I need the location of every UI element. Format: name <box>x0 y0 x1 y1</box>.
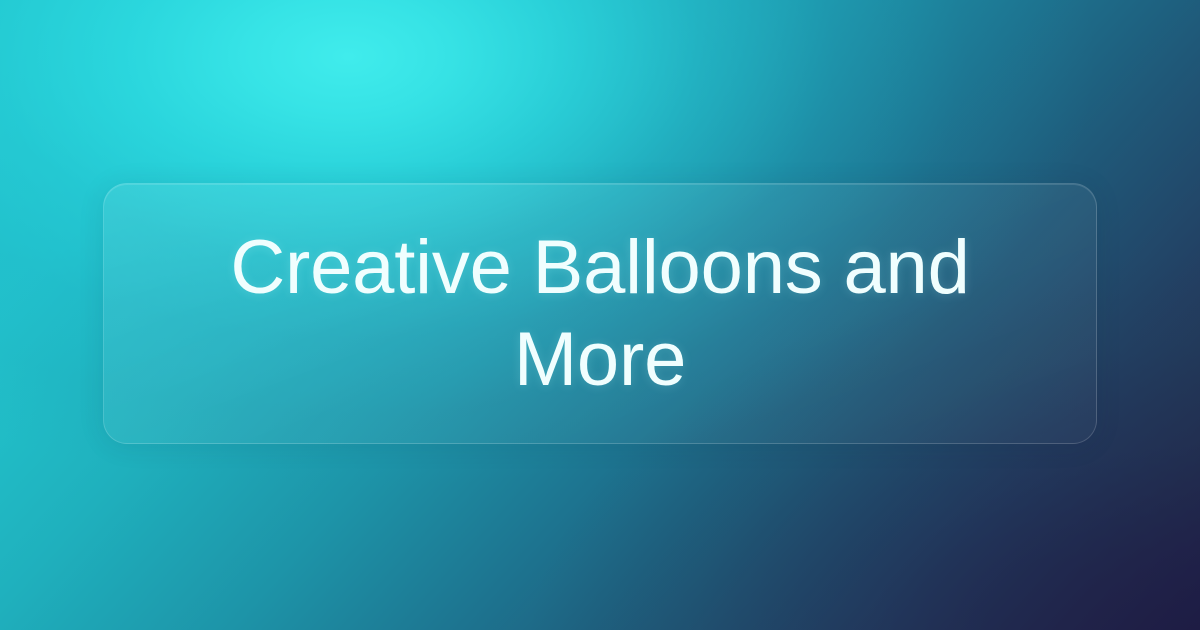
page-title: Creative Balloons and More <box>146 222 1054 404</box>
social-card-canvas: Creative Balloons and More <box>0 0 1200 630</box>
title-card: Creative Balloons and More <box>103 183 1097 444</box>
